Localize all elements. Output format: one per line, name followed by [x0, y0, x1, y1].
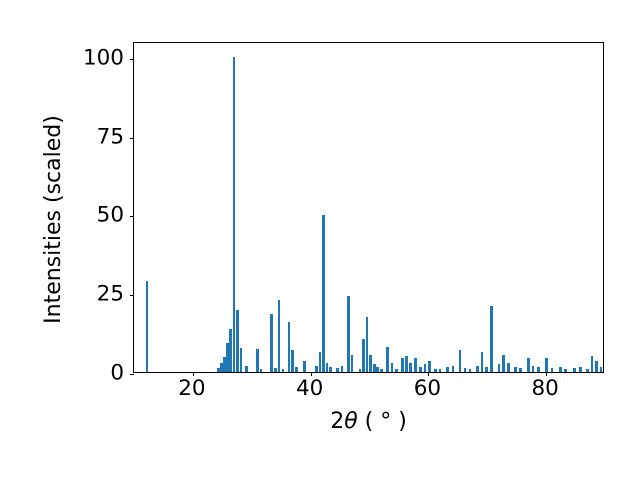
xrd-peak-bar — [233, 57, 236, 372]
xrd-peak-bar — [322, 215, 325, 372]
xrd-peak-bar — [452, 366, 455, 372]
xrd-peak-bar — [498, 364, 501, 372]
xrd-peak-bar — [464, 368, 467, 372]
xrd-peak-bar — [236, 310, 239, 372]
xrd-peak-bar — [446, 367, 449, 372]
xrd-peak-bar — [459, 350, 462, 372]
xrd-peak-bar — [564, 369, 567, 372]
xrd-peak-bar — [274, 368, 277, 372]
xrd-peak-bar — [551, 368, 554, 372]
xrd-peak-bar — [256, 349, 259, 372]
y-tick-mark — [130, 374, 134, 375]
xrd-peak-bar — [519, 368, 522, 372]
xrd-peak-bar — [326, 363, 329, 372]
x-tick-label: 40 — [296, 378, 323, 400]
xrd-peak-bar — [537, 367, 540, 372]
xrd-peak-bar — [514, 367, 517, 372]
xrd-peak-bar — [146, 281, 149, 372]
xrd-peak-bar — [386, 347, 389, 372]
xrd-peak-bar — [282, 369, 285, 372]
x-tick-label-group: 20406080 — [133, 378, 604, 408]
xrd-peak-bar — [586, 369, 589, 372]
xrd-peak-bar — [428, 361, 431, 372]
xrd-peak-bar — [502, 355, 505, 372]
xrd-peak-bar — [351, 355, 354, 372]
xrd-peak-bar — [240, 348, 243, 372]
xrd-peak-bar — [424, 364, 427, 372]
xrd-peak-bar — [380, 369, 383, 372]
y-tick-mark — [130, 295, 134, 296]
xrd-peak-bar — [414, 358, 417, 372]
y-axis-label: Intensities (scaled) — [41, 54, 66, 385]
xrd-peak-bar — [490, 306, 493, 372]
x-axis-label-suffix: ( ° ) — [358, 409, 407, 434]
xrd-peak-bar — [278, 300, 281, 372]
plot-area — [133, 42, 604, 373]
xrd-peak-bar — [485, 367, 488, 372]
xrd-peak-bar — [329, 367, 332, 372]
xrd-peak-bar — [481, 352, 484, 372]
x-tick-label: 20 — [178, 378, 205, 400]
xrd-peak-bar — [362, 339, 365, 372]
xrd-peak-bar — [409, 363, 412, 372]
xrd-peak-bar — [229, 329, 232, 372]
y-tick-mark — [130, 138, 134, 139]
xrd-peak-bar — [434, 369, 437, 372]
xrd-peak-bar — [315, 366, 318, 372]
xrd-peak-bar — [579, 367, 582, 372]
y-tick-mark — [130, 59, 134, 60]
xrd-peak-bar — [366, 317, 369, 372]
xrd-peak-bar — [545, 358, 548, 372]
xrd-peak-bar — [507, 363, 510, 372]
xrd-peak-bar — [245, 366, 248, 372]
xrd-peak-bar — [419, 367, 422, 372]
xrd-peak-bar — [291, 350, 294, 372]
xrd-peak-bar — [376, 367, 379, 372]
x-axis-label: 2θ ( ° ) — [133, 409, 604, 434]
xrd-figure: 0255075100 20406080 2θ ( ° ) Intensities… — [0, 0, 640, 480]
xrd-peak-bar — [270, 314, 273, 372]
xrd-peak-bar — [373, 364, 376, 372]
xrd-peak-bar — [527, 358, 530, 372]
xrd-peak-bar — [469, 369, 472, 372]
xrd-peak-bar — [595, 361, 598, 372]
y-tick-mark — [130, 216, 134, 217]
x-tick-label: 60 — [414, 378, 441, 400]
xrd-peak-bar — [476, 366, 479, 372]
xrd-peak-bar — [573, 368, 576, 372]
xrd-peak-bar — [591, 356, 594, 372]
xrd-peak-bar — [559, 367, 562, 372]
bar-series-xrd — [134, 43, 603, 372]
xrd-peak-bar — [395, 369, 398, 372]
xrd-peak-bar — [391, 363, 394, 372]
xrd-peak-bar — [401, 358, 404, 372]
xrd-peak-bar — [319, 352, 322, 372]
xrd-peak-bar — [303, 361, 306, 372]
xrd-peak-bar — [439, 369, 442, 372]
xrd-peak-bar — [347, 296, 350, 372]
xrd-peak-bar — [369, 355, 372, 372]
xrd-peak-bar — [336, 368, 339, 372]
x-tick-label: 80 — [531, 378, 558, 400]
xrd-peak-bar — [288, 322, 291, 372]
xrd-peak-bar — [260, 369, 263, 372]
xrd-peak-bar — [532, 366, 535, 372]
x-axis-label-theta: θ — [344, 409, 357, 434]
xrd-peak-bar — [600, 367, 603, 372]
xrd-peak-bar — [405, 356, 408, 372]
xrd-peak-bar — [295, 367, 298, 372]
xrd-peak-bar — [217, 368, 220, 372]
xrd-peak-bar — [359, 369, 362, 372]
x-axis-label-prefix: 2 — [330, 409, 344, 434]
xrd-peak-bar — [341, 366, 344, 372]
